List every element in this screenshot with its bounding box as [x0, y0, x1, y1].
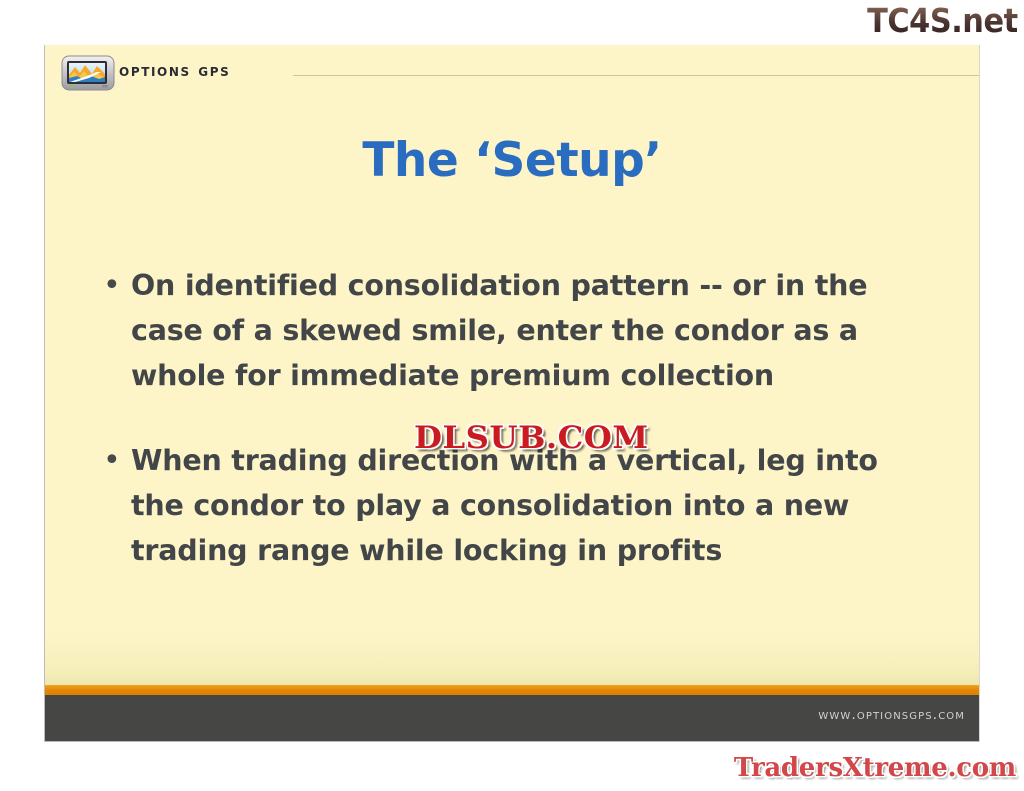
watermark-dlsub: DLSUB.COM [414, 421, 649, 455]
watermark-tradersxtreme: TradersXtreme.com [734, 753, 1016, 783]
page-title: The ‘Setup’ [45, 133, 979, 189]
list-item: • On identified consolidation pattern --… [97, 263, 957, 398]
presentation-slide: Options GPS The ‘Setup’ • On identified … [44, 45, 980, 742]
bullet-point-icon: • [97, 263, 131, 309]
footer-url: www.OptionsGPS.com [818, 707, 965, 723]
slide-footer: www.OptionsGPS.com [45, 695, 979, 742]
slide-header: Options GPS [45, 45, 979, 97]
bullet-text: When trading direction with a vertical, … [131, 438, 931, 573]
brand-wordmark: Options GPS [119, 61, 230, 81]
site-brand-tc4s: TC4S.net [867, 2, 1018, 40]
gps-device-icon [61, 54, 115, 94]
bullet-text: On identified consolidation pattern -- o… [131, 263, 931, 398]
list-item: • When trading direction with a vertical… [97, 438, 957, 573]
footer-accent-stripe [45, 685, 979, 695]
header-divider [293, 75, 979, 76]
bullet-point-icon: • [97, 438, 131, 484]
